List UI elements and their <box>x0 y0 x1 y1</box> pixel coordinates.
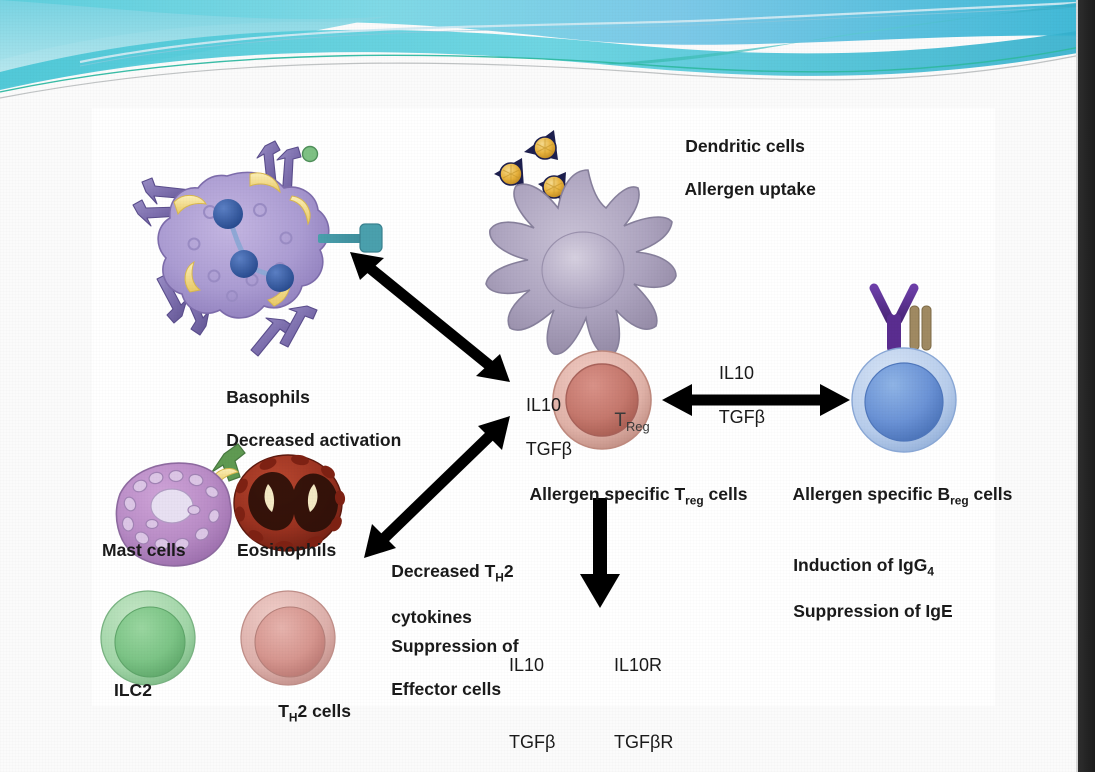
slide-canvas: Dendritic cells Allergen uptake Basophil… <box>0 0 1095 772</box>
wave-header-decoration <box>0 0 1095 120</box>
dendritic-cells-label: Dendritic cells Allergen uptake <box>656 115 816 222</box>
immunology-figure-panel: Dendritic cells Allergen uptake Basophil… <box>92 108 995 706</box>
molecule-item: TGFβR <box>614 730 673 756</box>
breg-effects-label: Induction of IgG4 Suppression of IgE <box>764 534 953 643</box>
dendritic-cell-illustration <box>486 170 676 356</box>
basophil-cell-illustration <box>133 141 382 356</box>
suppression-effector-label: Suppression of Effector cells <box>362 615 519 722</box>
treg-subscript: Reg <box>626 419 650 434</box>
eosinophils-label: Eosinophils <box>237 540 336 561</box>
molecule-item: IL10 <box>509 653 574 679</box>
basophils-label: Basophils Decreased activation <box>197 366 401 473</box>
molecule-column-left: IL10 TGFβ sCTLA4 <box>509 602 574 772</box>
mast-cells-label: Mast cells <box>102 540 186 561</box>
breg-caption-subscript: reg <box>950 494 969 508</box>
slide-right-dark-band <box>1078 0 1095 772</box>
arrow-dc-to-basophil <box>350 252 510 382</box>
molecule-item: TGFβ <box>509 730 574 756</box>
th2-cell-illustration <box>241 591 335 685</box>
ilc2-cell-illustration <box>101 591 195 685</box>
molecule-column-right: IL10R TGFβR PD1 HR2 <box>614 602 673 772</box>
iggsubscript: 4 <box>927 565 934 579</box>
treg-caption: Allergen specific Treg cells <box>501 463 747 530</box>
ilc2-label: ILC2 <box>114 680 152 701</box>
th2-cells-label: TH2 cells <box>249 680 351 747</box>
treg-caption-subscript: reg <box>685 494 704 508</box>
treg-cell-inner-label: TReg <box>583 386 650 458</box>
breg-cell-illustration <box>852 288 956 452</box>
treg-breg-cytokines-label: IL10 TGFβ <box>689 341 765 451</box>
decreased-th2-subscript: H <box>495 571 504 585</box>
molecule-item: IL10R <box>614 653 673 679</box>
breg-caption: Allergen specific Breg cells <box>764 463 1012 530</box>
